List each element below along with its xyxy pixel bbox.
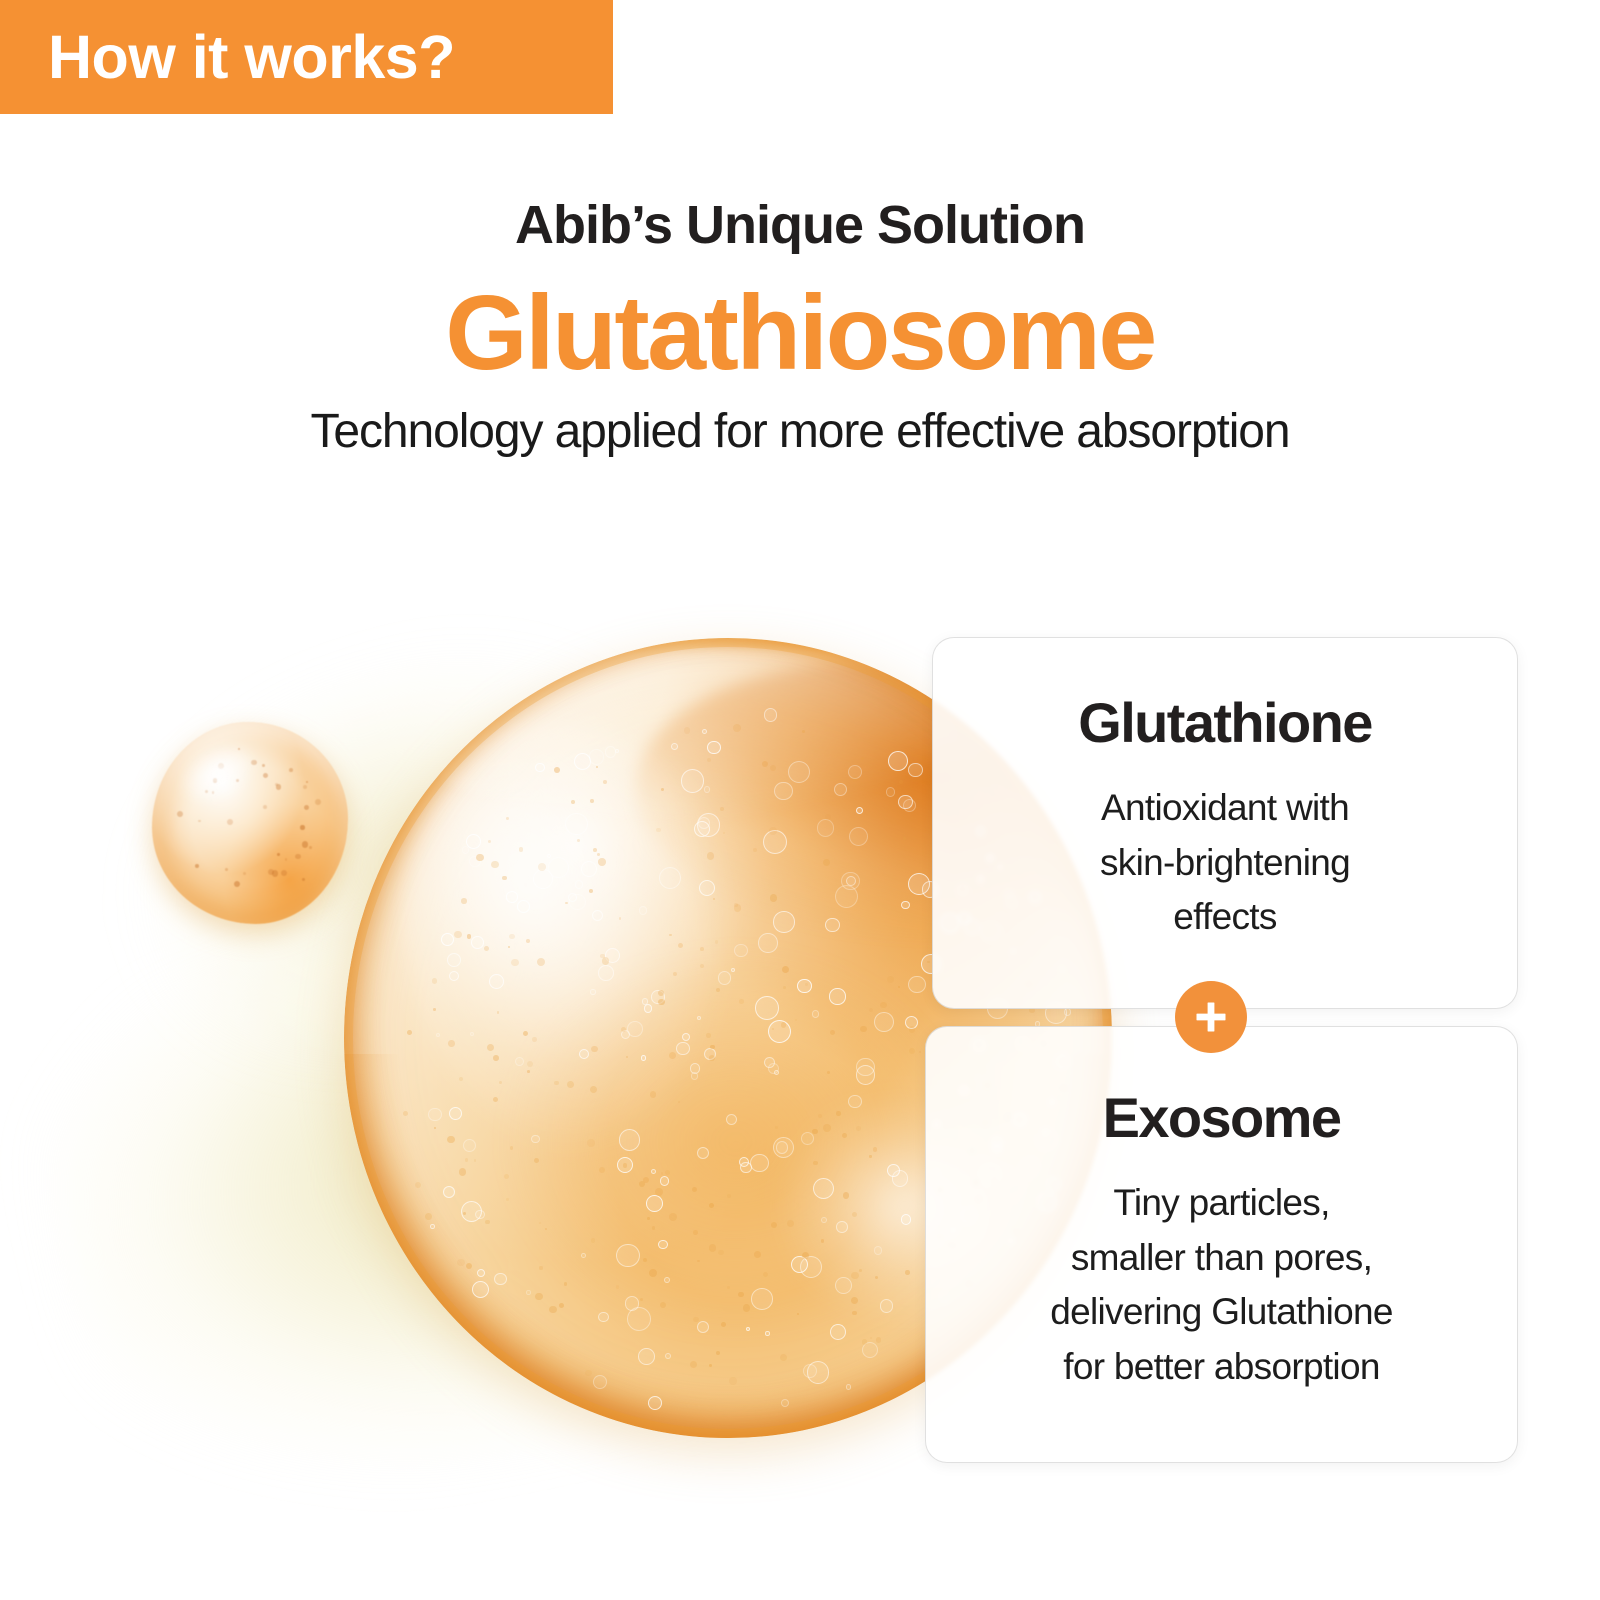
card-glutathione-desc-line-2: skin-brightening [1100,836,1350,891]
card-exosome-desc-line-3: delivering Glutathione [1050,1285,1393,1340]
card-glutathione-desc-line-1: Antioxidant with [1100,781,1350,836]
card-exosome-desc-line-2: smaller than pores, [1050,1231,1393,1286]
eyebrow-text: Abib’s Unique Solution [0,196,1600,254]
brandmark-title: Glutathiosome [0,266,1600,402]
card-exosome: Exosome Tiny particles, smaller than por… [925,1026,1518,1463]
card-exosome-desc-line-4: for better absorption [1050,1340,1393,1395]
card-exosome-title: Exosome [1103,1089,1341,1148]
page-root: How it works? Abib’s Unique Solution Glu… [0,0,1600,1600]
header-banner: How it works? [0,0,613,114]
plus-icon [1175,981,1247,1053]
header-banner-label: How it works? [0,27,455,88]
card-glutathione: Glutathione Antioxidant with skin-bright… [932,637,1518,1009]
card-exosome-desc-line-1: Tiny particles, [1050,1176,1393,1231]
card-exosome-description: Tiny particles, smaller than pores, deli… [1050,1176,1393,1395]
card-glutathione-description: Antioxidant with skin-brightening effect… [1100,781,1350,945]
card-glutathione-desc-line-3: effects [1100,890,1350,945]
title-block: Abib’s Unique Solution Glutathiosome Tec… [0,196,1600,459]
card-glutathione-title: Glutathione [1078,694,1372,753]
tagline-text: Technology applied for more effective ab… [0,406,1600,459]
